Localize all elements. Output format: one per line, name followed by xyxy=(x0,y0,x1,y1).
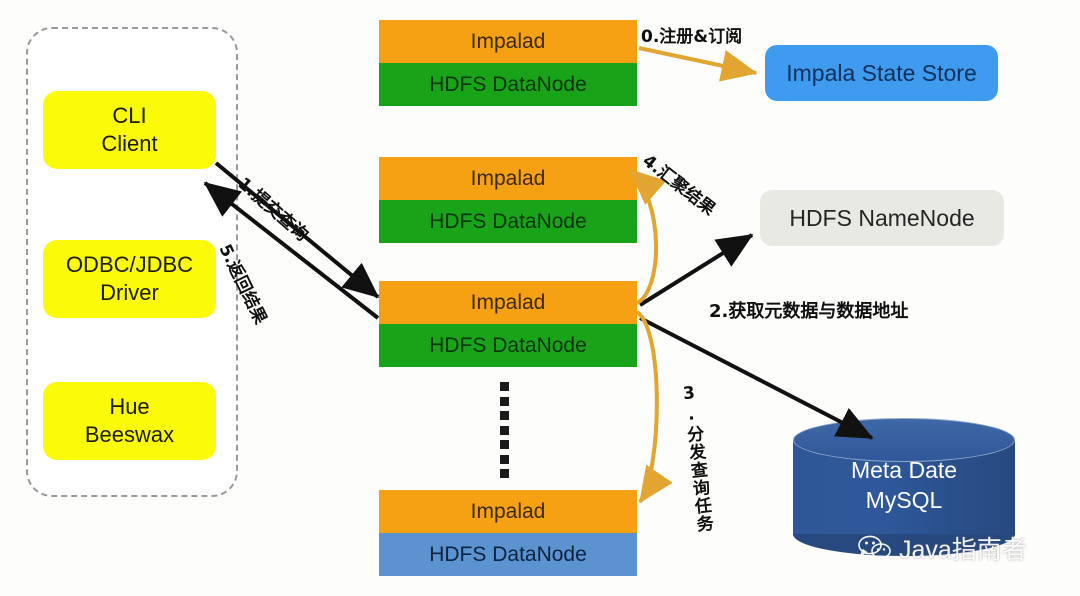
impalad-node-4[interactable]: Impalad HDFS DataNode xyxy=(379,490,637,576)
watermark: Java指南者 xyxy=(858,530,1027,566)
client-box-cli[interactable]: CLI Client xyxy=(43,91,216,169)
vertical-ellipsis-icon xyxy=(497,382,511,478)
arrow-label-step0: 0.注册&订阅 xyxy=(641,22,742,47)
client-box-hue-line2: Beeswax xyxy=(85,421,174,449)
impalad-band-4: Impalad xyxy=(379,490,637,533)
arrow-label-step2: 2.获取元数据与数据地址 xyxy=(709,297,908,323)
impalad-band-2: Impalad xyxy=(379,157,637,200)
impalad-node-1[interactable]: Impalad HDFS DataNode xyxy=(379,20,637,106)
meta-database-line2: MySQL xyxy=(793,486,1015,516)
impala-state-store-box[interactable]: Impala State Store xyxy=(765,45,998,101)
hdfs-namenode-box[interactable]: HDFS NameNode xyxy=(760,190,1004,246)
client-box-odbc-line2: Driver xyxy=(100,279,159,307)
hdfs-namenode-label: HDFS NameNode xyxy=(789,205,974,232)
datanode-band-3: HDFS DataNode xyxy=(379,324,637,367)
datanode-band-2: HDFS DataNode xyxy=(379,200,637,243)
client-box-odbc-line1: ODBC/JDBC xyxy=(66,251,193,279)
datanode-band-1: HDFS DataNode xyxy=(379,63,637,106)
meta-database-label: Meta Date MySQL xyxy=(793,456,1015,516)
client-box-hue-beeswax[interactable]: Hue Beeswax xyxy=(43,382,216,460)
client-box-odbc-jdbc[interactable]: ODBC/JDBC Driver xyxy=(43,240,216,318)
arrow-label-step1: 1.提交查询 xyxy=(234,170,316,245)
wechat-icon xyxy=(858,535,892,561)
impalad-node-3-coordinator[interactable]: Impalad HDFS DataNode xyxy=(379,281,637,367)
impalad-band-3: Impalad xyxy=(379,281,637,324)
impala-state-store-label: Impala State Store xyxy=(786,60,977,87)
meta-database-line1: Meta Date xyxy=(793,456,1015,486)
client-box-hue-line1: Hue xyxy=(109,393,149,421)
client-box-cli-line1: CLI xyxy=(112,102,146,130)
impalad-node-2[interactable]: Impalad HDFS DataNode xyxy=(379,157,637,243)
arrow-label-step3: 3.分发查询任务 xyxy=(676,382,717,534)
arrow-to-meta-database xyxy=(640,318,872,438)
arrow-step3-distribute-tasks xyxy=(637,312,657,502)
diagram-canvas: CLI Client ODBC/JDBC Driver Hue Beeswax … xyxy=(0,0,1080,596)
watermark-text: Java指南者 xyxy=(899,530,1027,566)
arrow-step0-register-subscribe xyxy=(639,48,756,73)
datanode-band-4: HDFS DataNode xyxy=(379,533,637,576)
impalad-band-1: Impalad xyxy=(379,20,637,63)
client-box-cli-line2: Client xyxy=(101,130,157,158)
